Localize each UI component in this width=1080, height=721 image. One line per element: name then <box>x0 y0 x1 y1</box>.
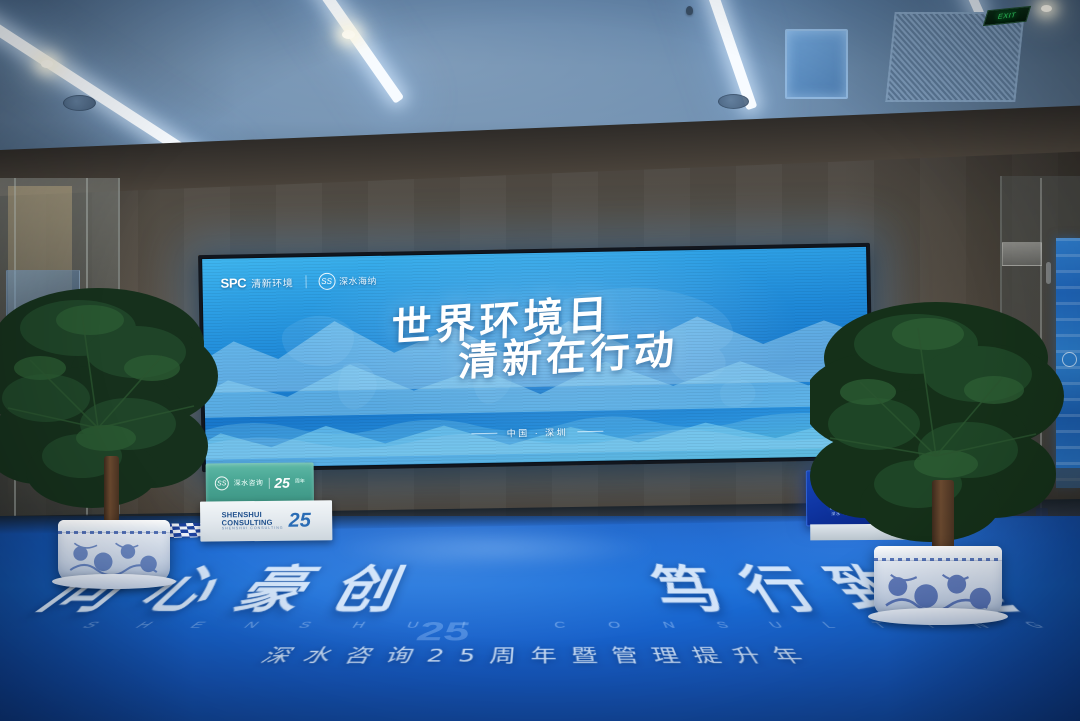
podium-left-divider <box>268 477 269 488</box>
led-display-screen[interactable]: SPC 清新环境 SS 深水海纳 世界环境日 清新在行动 中国 · 深圳 <box>198 243 874 472</box>
sprinkler-icon <box>686 6 693 15</box>
illuminated-ceiling-panel <box>785 29 848 99</box>
ceiling-speaker-icon <box>718 94 749 109</box>
downlight-icon <box>41 60 53 68</box>
podium-left-top-number: 25 <box>274 475 290 491</box>
subtitle-dash-right <box>577 431 603 432</box>
downlight-icon <box>342 30 355 39</box>
logo-divider <box>305 275 306 288</box>
door-plaque <box>1002 242 1042 266</box>
podium-left-base-number: 25 <box>288 509 310 532</box>
potted-ficus-tree-right <box>820 266 1070 606</box>
subtitle-text: 中国 · 深圳 <box>507 425 569 439</box>
spc-logo: SPC 清新环境 <box>220 274 293 290</box>
floor-highlight <box>330 528 660 568</box>
shenshui-logo-cn: 深水海纳 <box>339 274 377 288</box>
ceiling-speaker-icon <box>63 95 96 111</box>
planter-band-right <box>874 558 1002 562</box>
subtitle-dash-left <box>472 433 498 434</box>
podium-left-logo-cn: 深水咨询 <box>234 478 264 488</box>
planter-band-left <box>58 531 170 534</box>
podium-left-latin: SHENSHUI CONSULTING <box>222 527 284 531</box>
event-hall-photo: EXIT <box>0 0 1080 721</box>
planter-saucer-left <box>52 574 176 589</box>
podium-left-wordmark: SHENSHUI CONSULTING SHENSHUI CONSULTING <box>222 511 284 531</box>
screen-logo-row: SPC 清新环境 SS 深水海纳 <box>220 272 376 292</box>
downlight-icon <box>1041 5 1052 12</box>
porcelain-planter-right <box>874 546 1002 616</box>
porcelain-planter-left <box>58 520 170 582</box>
shenshui-logo-icon: SS <box>318 273 335 290</box>
hvac-grille-icon <box>885 12 1024 102</box>
shenshui-logo: SS 深水海纳 <box>318 272 377 290</box>
planter-saucer-right <box>868 608 1008 625</box>
floor-bottom-line: 深水咨询25周年暨管理提升年 <box>0 642 1080 668</box>
screen-content: SPC 清新环境 SS 深水海纳 世界环境日 清新在行动 中国 · 深圳 <box>202 247 870 468</box>
podium-left-top-cn: 周年 <box>295 480 305 486</box>
potted-ficus-tree-left <box>0 248 230 578</box>
spc-logo-cn: 清新环境 <box>251 274 293 290</box>
